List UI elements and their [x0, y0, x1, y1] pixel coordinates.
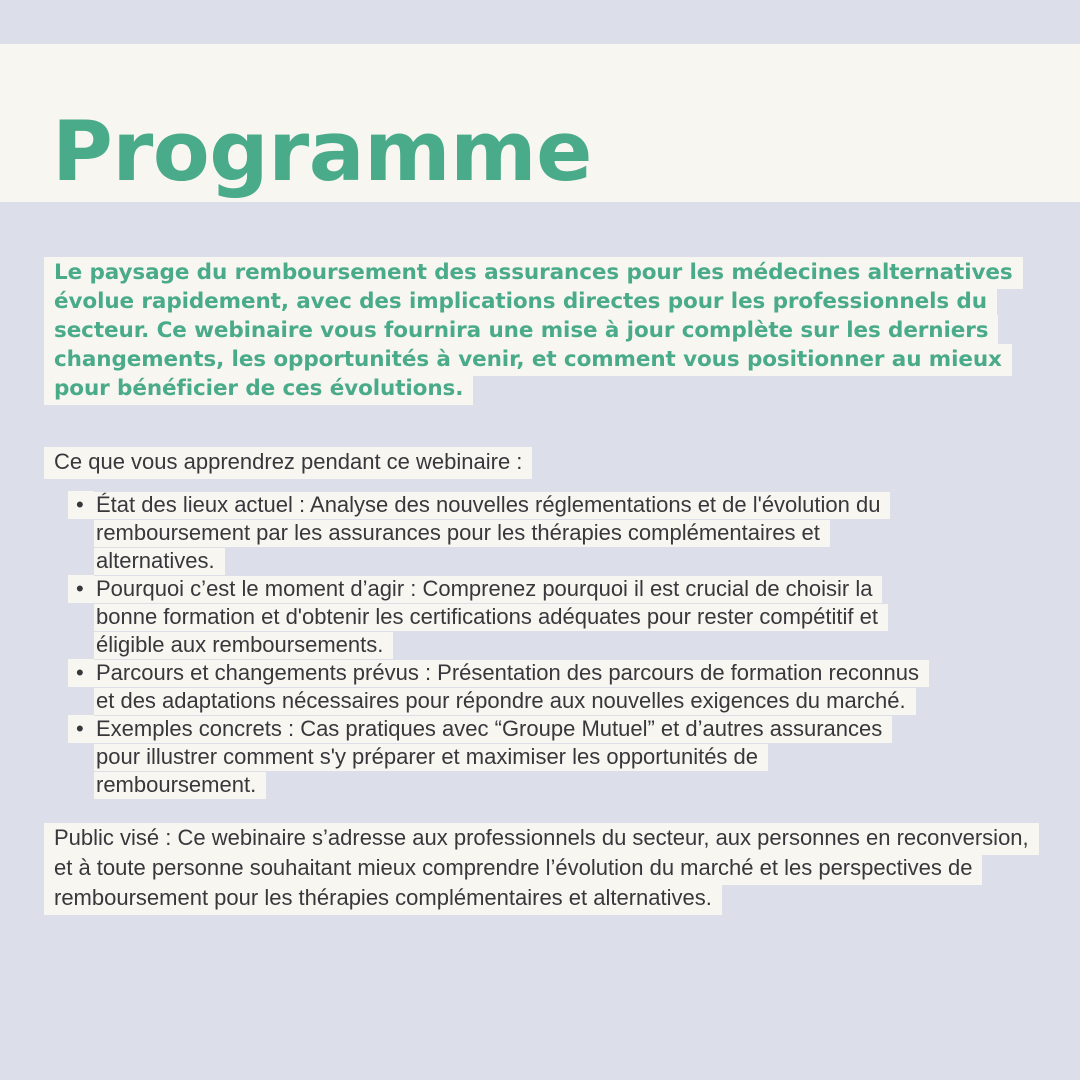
main-content: Le paysage du remboursement des assuranc… [0, 258, 1080, 913]
bullet-icon: • [68, 715, 94, 743]
list-item: • Parcours et changements prévus : Prése… [68, 659, 1050, 715]
list-item: • Pourquoi c’est le moment d’agir : Comp… [68, 575, 1050, 659]
list-item-line: et des adaptations nécessaires pour répo… [94, 688, 916, 715]
list-item-text: Pourquoi c’est le moment d’agir : Compre… [68, 575, 1050, 659]
list-item: • Exemples concrets : Cas pratiques avec… [68, 715, 1050, 799]
page-title: Programme [52, 110, 592, 193]
bullet-icon: • [68, 575, 94, 603]
closing-paragraph: Public visé : Ce webinaire s’adresse aux… [0, 799, 1080, 913]
list-item-line: alternatives. [94, 548, 225, 575]
list-item-line: bonne formation et d'obtenir les certifi… [94, 604, 888, 631]
list-item-line: Exemples concrets : Cas pratiques avec “… [94, 716, 892, 743]
list-item-text: Parcours et changements prévus : Présent… [68, 659, 1050, 715]
list-item-line: État des lieux actuel : Analyse des nouv… [94, 492, 890, 519]
list-item-line: remboursement par les assurances pour le… [94, 520, 830, 547]
list-item-line: remboursement. [94, 772, 266, 799]
closing-paragraph-text: Public visé : Ce webinaire s’adresse aux… [44, 823, 1039, 915]
list-item-line: Pourquoi c’est le moment d’agir : Compre… [94, 576, 882, 603]
bullet-icon: • [68, 659, 94, 687]
intro-line-text: Ce que vous apprendrez pendant ce webina… [44, 447, 532, 479]
list-item-line: éligible aux remboursements. [94, 632, 393, 659]
lead-paragraph-text: Le paysage du remboursement des assuranc… [44, 257, 1023, 405]
bullet-icon: • [68, 491, 94, 519]
list-item-line: pour illustrer comment s'y préparer et m… [94, 744, 768, 771]
lead-paragraph: Le paysage du remboursement des assuranc… [0, 258, 1080, 403]
header-band: Programme [0, 44, 1080, 202]
learning-points-list: • État des lieux actuel : Analyse des no… [0, 491, 1080, 799]
list-item-text: État des lieux actuel : Analyse des nouv… [68, 491, 1050, 575]
intro-line: Ce que vous apprendrez pendant ce webina… [0, 403, 1080, 477]
list-item-line: Parcours et changements prévus : Présent… [94, 660, 929, 687]
list-item-text: Exemples concrets : Cas pratiques avec “… [68, 715, 1050, 799]
slide-root: Programme Le paysage du remboursement de… [0, 0, 1080, 1080]
list-item: • État des lieux actuel : Analyse des no… [68, 491, 1050, 575]
